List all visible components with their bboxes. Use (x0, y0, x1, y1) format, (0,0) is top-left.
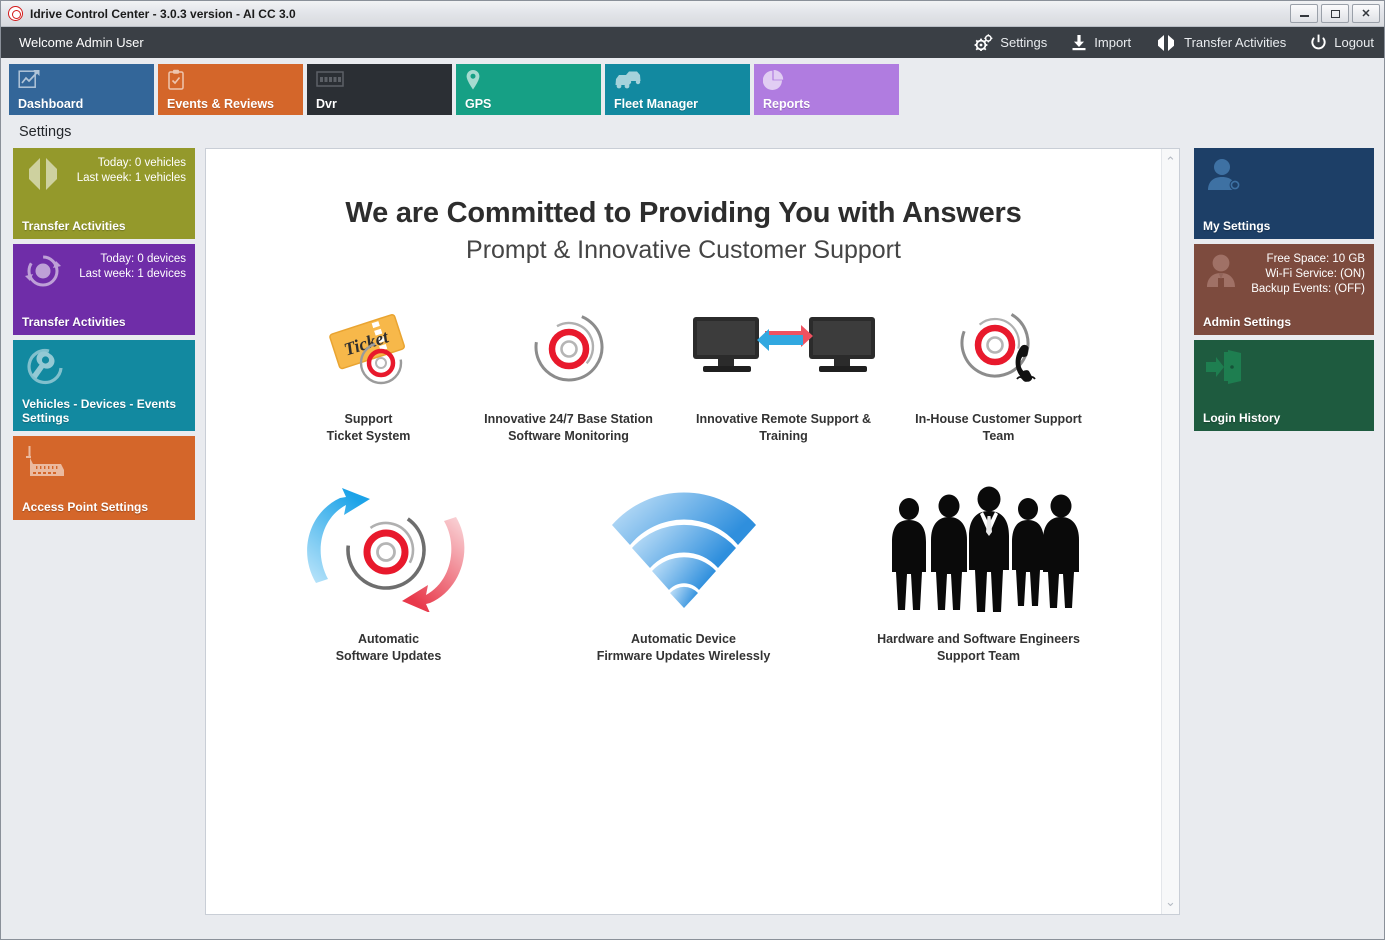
tile-title: Access Point Settings (22, 500, 154, 514)
minimize-button[interactable] (1290, 4, 1318, 23)
feature-engineers-support-team: Hardware and Software Engineers Support … (829, 479, 1129, 665)
left-sidebar: Today: 0 vehicles Last week: 1 vehicles … (13, 148, 195, 915)
router-icon (23, 444, 71, 487)
tile-stats: Free Space: 10 GB Wi-Fi Service: (ON) Ba… (1203, 252, 1365, 297)
user-settings-icon (1204, 156, 1244, 201)
stat-backup-events: Backup Events: (OFF) (1203, 282, 1365, 297)
stat-last-week: Last week: 1 devices (22, 267, 186, 282)
tab-fleet-manager[interactable]: Fleet Manager (605, 64, 750, 115)
top-menu: Settings Import (974, 34, 1374, 52)
tile-title: Login History (1203, 411, 1286, 425)
scroll-up-arrow[interactable]: ⌃ (1165, 155, 1176, 168)
title-bar: Idrive Control Center - 3.0.3 version - … (1, 1, 1384, 27)
tab-label-gps: GPS (465, 97, 491, 111)
feature-remote-support-training: Innovative Remote Support & Training (669, 295, 899, 445)
team-silhouette-icon (879, 479, 1079, 619)
feature-firmware-updates-wirelessly: Automatic Device Firmware Updates Wirele… (539, 479, 829, 665)
menu-label-settings: Settings (1000, 35, 1047, 50)
gears-icon (974, 34, 993, 51)
pie-chart-icon (763, 78, 785, 95)
clipboard-check-icon (167, 78, 185, 95)
feature-caption: Innovative 24/7 Base Station Software Mo… (484, 411, 653, 445)
tile-admin-settings[interactable]: Free Space: 10 GB Wi-Fi Service: (ON) Ba… (1194, 244, 1374, 335)
menu-item-settings[interactable]: Settings (974, 34, 1047, 51)
stat-free-space: Free Space: 10 GB (1203, 252, 1365, 267)
target-phone-icon (951, 295, 1047, 399)
menu-label-transfer-activities: Transfer Activities (1184, 35, 1286, 50)
feature-caption: Support Ticket System (327, 411, 411, 445)
tile-vehicles-devices-events-settings[interactable]: Vehicles - Devices - Events Settings (13, 340, 195, 431)
tab-dashboard[interactable]: Dashboard (9, 64, 154, 115)
status-bar (1, 927, 1384, 939)
dvr-device-icon (316, 76, 344, 93)
tile-transfer-activities-vehicles[interactable]: Today: 0 vehicles Last week: 1 vehicles … (13, 148, 195, 239)
close-button[interactable]: ✕ (1352, 4, 1380, 23)
maximize-button[interactable] (1321, 4, 1349, 23)
feature-automatic-software-updates: Automatic Software Updates (239, 479, 539, 665)
target-rings-icon (527, 295, 611, 399)
tile-title: Vehicles - Devices - Events Settings (22, 397, 195, 425)
wifi-signal-icon (604, 479, 764, 619)
breadcrumb-bar: Settings (1, 115, 1384, 148)
content-headline: We are Committed to Providing You with A… (226, 197, 1141, 230)
target-logo-icon (8, 6, 23, 21)
feature-in-house-support-team: In-House Customer Support Team (899, 295, 1099, 445)
menu-item-import[interactable]: Import (1071, 34, 1131, 51)
module-tab-bar: Dashboard Events & Reviews (1, 58, 1384, 115)
power-icon (1310, 34, 1327, 51)
feature-base-station-monitoring: Innovative 24/7 Base Station Software Mo… (469, 295, 669, 445)
feature-caption: Automatic Software Updates (336, 631, 442, 665)
tile-stats: Today: 0 vehicles Last week: 1 vehicles (22, 156, 186, 186)
tile-login-history[interactable]: Login History (1194, 340, 1374, 431)
tab-label-dvr: Dvr (316, 97, 337, 111)
menu-item-transfer-activities[interactable]: Transfer Activities (1155, 34, 1286, 52)
body-region: Today: 0 vehicles Last week: 1 vehicles … (1, 148, 1384, 927)
tab-reports[interactable]: Reports (754, 64, 899, 115)
tile-my-settings[interactable]: My Settings (1194, 148, 1374, 239)
tab-label-events-reviews: Events & Reviews (167, 97, 274, 111)
tile-access-point-settings[interactable]: Access Point Settings (13, 436, 195, 520)
tile-stats: Today: 0 devices Last week: 1 devices (22, 252, 186, 282)
tab-label-reports: Reports (763, 97, 810, 111)
breadcrumb: Settings (19, 124, 71, 140)
menu-label-logout: Logout (1334, 35, 1374, 50)
right-sidebar: My Settings Free Space: 10 GB Wi-Fi Serv… (1194, 148, 1374, 915)
stat-today: Today: 0 vehicles (22, 156, 186, 171)
stat-today: Today: 0 devices (22, 252, 186, 267)
window-title: Idrive Control Center - 3.0.3 version - … (30, 7, 296, 21)
tab-label-dashboard: Dashboard (18, 97, 83, 111)
application-window: Idrive Control Center - 3.0.3 version - … (0, 0, 1385, 940)
content-subheadline: Prompt & Innovative Customer Support (226, 236, 1141, 265)
content-scroll-area: We are Committed to Providing You with A… (206, 149, 1161, 914)
transfer-arrows-icon (1155, 34, 1177, 52)
feature-caption: Innovative Remote Support & Training (696, 411, 871, 445)
tab-label-fleet-manager: Fleet Manager (614, 97, 698, 111)
tile-title: Admin Settings (1203, 315, 1297, 329)
tab-dvr[interactable]: Dvr (307, 64, 452, 115)
scroll-down-arrow[interactable]: ⌄ (1165, 895, 1176, 908)
tab-events-reviews[interactable]: Events & Reviews (158, 64, 303, 115)
refresh-target-icon (296, 479, 481, 619)
map-pin-icon (465, 78, 481, 95)
tile-title: Transfer Activities (22, 219, 132, 233)
top-navigation-bar: Welcome Admin User (1, 27, 1384, 58)
feature-row-1: Ticket Support Ticket System (226, 295, 1141, 445)
stat-wifi-service: Wi-Fi Service: (ON) (1203, 267, 1365, 282)
window-controls: ✕ (1290, 4, 1380, 23)
vehicles-icon (614, 76, 642, 93)
download-icon (1071, 34, 1087, 51)
tile-title: Transfer Activities (22, 315, 132, 329)
tile-title: My Settings (1203, 219, 1276, 233)
stat-last-week: Last week: 1 vehicles (22, 171, 186, 186)
feature-caption: In-House Customer Support Team (915, 411, 1082, 445)
login-door-icon (1204, 348, 1244, 389)
main-content-panel: We are Committed to Providing You with A… (205, 148, 1180, 915)
feature-support-ticket-system: Ticket Support Ticket System (269, 295, 469, 445)
feature-caption: Automatic Device Firmware Updates Wirele… (597, 631, 771, 665)
feature-caption: Hardware and Software Engineers Support … (877, 631, 1080, 665)
tab-gps[interactable]: GPS (456, 64, 601, 115)
wrench-icon (23, 348, 65, 393)
chart-arrow-icon (18, 78, 41, 95)
menu-label-import: Import (1094, 35, 1131, 50)
vertical-scrollbar[interactable]: ⌃ ⌄ (1161, 149, 1179, 914)
feature-row-2: Automatic Software Updates (226, 479, 1141, 665)
welcome-message: Welcome Admin User (19, 35, 144, 50)
ticket-target-icon: Ticket (319, 295, 419, 399)
dual-monitors-arrows-icon (689, 295, 879, 399)
tile-transfer-activities-devices[interactable]: Today: 0 devices Last week: 1 devices Tr… (13, 244, 195, 335)
menu-item-logout[interactable]: Logout (1310, 34, 1374, 51)
